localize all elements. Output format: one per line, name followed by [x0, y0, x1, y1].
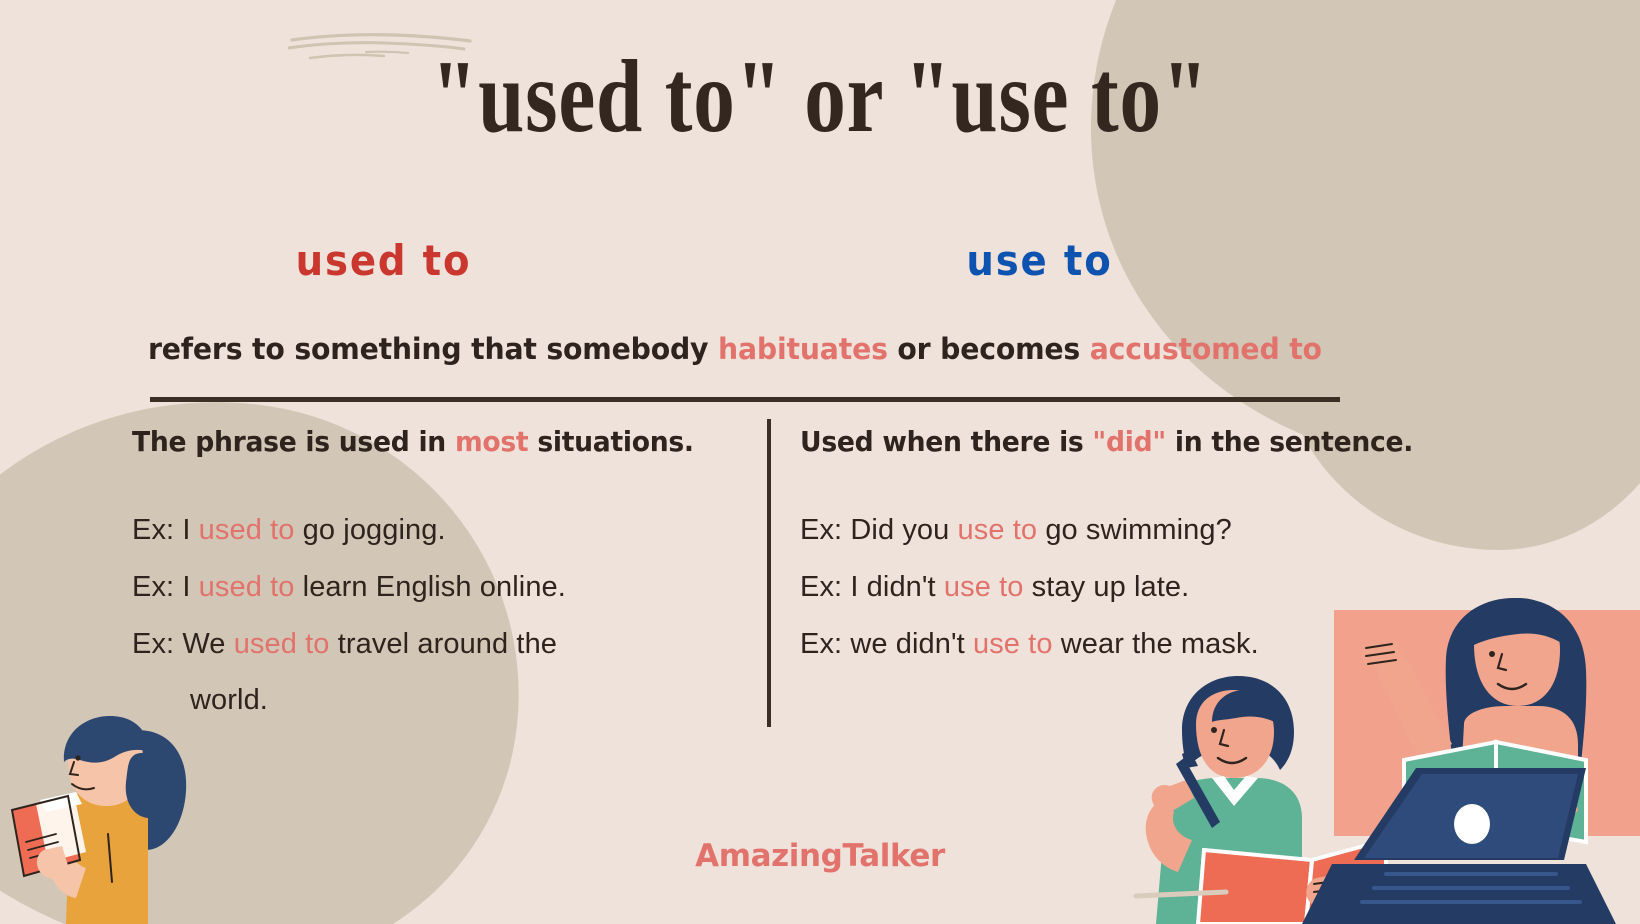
example-highlight: use to — [944, 571, 1024, 603]
column-right-rule: Used when there is "did" in the sentence… — [800, 425, 1446, 458]
example-pre: Ex: I didn't — [800, 571, 944, 603]
rule-pre: Used when there is — [800, 425, 1092, 458]
example-highlight: use to — [973, 628, 1053, 660]
definition-highlight-2: accustomed to — [1090, 332, 1322, 366]
example-pre: Ex: We — [132, 628, 234, 660]
list-item: Ex: I used to go jogging. — [132, 502, 752, 559]
example-post: learn English online. — [295, 571, 566, 603]
definition-part-2: or becomes — [888, 332, 1090, 366]
vertical-divider — [767, 419, 771, 727]
boy-with-laptop-and-teacher-video-call-icon — [1086, 592, 1640, 924]
column-left-examples: Ex: I used to go jogging. Ex: I used to … — [132, 502, 752, 729]
example-continuation: world. — [132, 672, 752, 729]
definition-line: refers to something that somebody habitu… — [148, 332, 1396, 366]
example-highlight: use to — [958, 514, 1038, 546]
girl-reading-book-icon — [8, 700, 223, 924]
example-pre: Ex: we didn't — [800, 628, 973, 660]
definition-part-1: refers to something that somebody — [148, 332, 718, 366]
list-item: Ex: I used to learn English online. — [132, 559, 752, 616]
rule-post: situations. — [528, 425, 693, 458]
example-highlight: used to — [234, 628, 330, 660]
example-pre: Ex: I — [132, 514, 199, 546]
rule-pre: The phrase is used in — [132, 425, 455, 458]
list-item: Ex: We used to travel around theworld. — [132, 616, 752, 730]
example-pre: Ex: Did you — [800, 514, 958, 546]
column-heading-use-to: use to — [966, 236, 1112, 285]
column-left: The phrase is used in most situations. E… — [132, 425, 752, 729]
infographic-canvas: "used to" or "use to" used to use to ref… — [0, 0, 1640, 924]
example-pre: Ex: I — [132, 571, 199, 603]
example-highlight: used to — [199, 571, 295, 603]
example-post: go swimming? — [1037, 514, 1232, 546]
list-item: Ex: Did you use to go swimming? — [800, 502, 1480, 559]
column-left-rule: The phrase is used in most situations. — [132, 425, 721, 458]
page-title: "used to" or "use to" — [164, 42, 1476, 151]
example-highlight: used to — [199, 514, 295, 546]
definition-highlight-1: habituates — [718, 332, 888, 366]
column-heading-used-to: used to — [296, 236, 472, 285]
example-post: go jogging. — [295, 514, 446, 546]
rule-post: in the sentence. — [1166, 425, 1413, 458]
rule-highlight: "did" — [1092, 425, 1166, 458]
horizontal-divider — [150, 397, 1340, 402]
example-post: travel around the — [330, 628, 558, 660]
rule-highlight: most — [455, 425, 528, 458]
